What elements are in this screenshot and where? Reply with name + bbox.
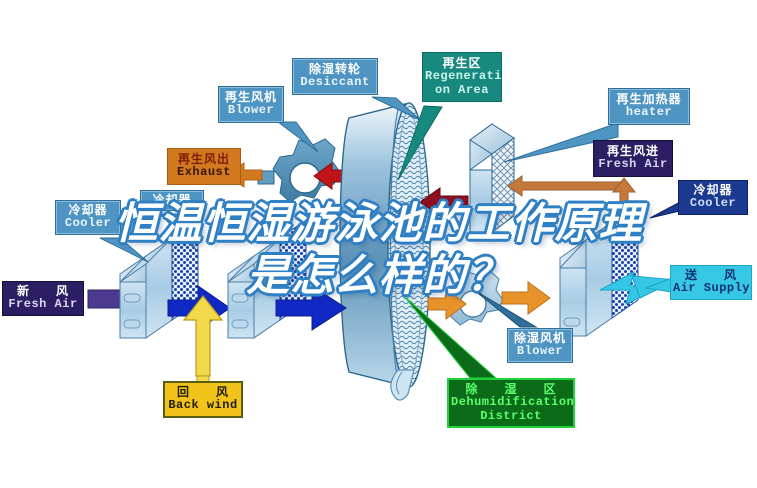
label-dehumidification-district-cn: 除 湿 区	[451, 383, 571, 396]
label-dehumid-blower-en: Blower	[510, 345, 570, 358]
label-regen-heater[interactable]: 再生加热器 heater	[608, 88, 690, 125]
label-regen-blower-cn: 再生风机	[221, 91, 281, 104]
label-regen-fresh-air[interactable]: 再生风进 Fresh Air	[593, 140, 673, 177]
label-back-wind-cn: 回 风	[167, 386, 239, 399]
label-regen-blower-en: Blower	[221, 104, 281, 117]
label-regeneration-area-cn: 再生区	[425, 57, 499, 70]
label-regen-blower[interactable]: 再生风机 Blower	[218, 86, 284, 123]
label-regeneration-area[interactable]: 再生区 Regenerati on Area	[422, 52, 502, 102]
label-desiccant-wheel-en: Desiccant	[295, 76, 375, 89]
label-regen-heater-cn: 再生加热器	[611, 93, 687, 106]
label-regeneration-area-en2: on Area	[425, 84, 499, 97]
label-back-wind[interactable]: 回 风 Back wind	[163, 381, 243, 418]
label-dehumid-blower-cn: 除湿风机	[510, 332, 570, 345]
label-cooler-right-cn: 冷却器	[681, 184, 745, 197]
label-regen-fresh-air-cn: 再生风进	[596, 145, 670, 158]
title-line-1: 恒温恒湿游泳池的工作原理	[0, 198, 757, 250]
title-overlay: 恒温恒湿游泳池的工作原理 是怎么样的？	[0, 198, 757, 302]
label-dehumid-blower[interactable]: 除湿风机 Blower	[507, 328, 573, 363]
label-regen-heater-en: heater	[611, 106, 687, 119]
label-desiccant-wheel-cn: 除湿转轮	[295, 63, 375, 76]
label-regeneration-area-en1: Regenerati	[425, 70, 499, 83]
label-regen-exhaust-en: Exhaust	[170, 166, 238, 179]
label-desiccant-wheel[interactable]: 除湿转轮 Desiccant	[292, 58, 378, 95]
label-regen-exhaust[interactable]: 再生风出 Exhaust	[167, 148, 241, 185]
label-dehumidification-district-en2: District	[451, 410, 571, 423]
label-back-wind-en: Back wind	[167, 399, 239, 412]
label-dehumidification-district-en1: Dehumidification	[451, 396, 571, 409]
label-regen-exhaust-cn: 再生风出	[170, 153, 238, 166]
label-regen-fresh-air-en: Fresh Air	[596, 158, 670, 171]
label-dehumidification-district[interactable]: 除 湿 区 Dehumidification District	[447, 378, 575, 428]
title-line-2: 是怎么样的？	[0, 250, 757, 302]
regen-heated-arrow	[508, 176, 626, 196]
diagram-canvas: 除湿转轮 Desiccant 再生风机 Blower 再生风出 Exhaust …	[0, 0, 757, 488]
